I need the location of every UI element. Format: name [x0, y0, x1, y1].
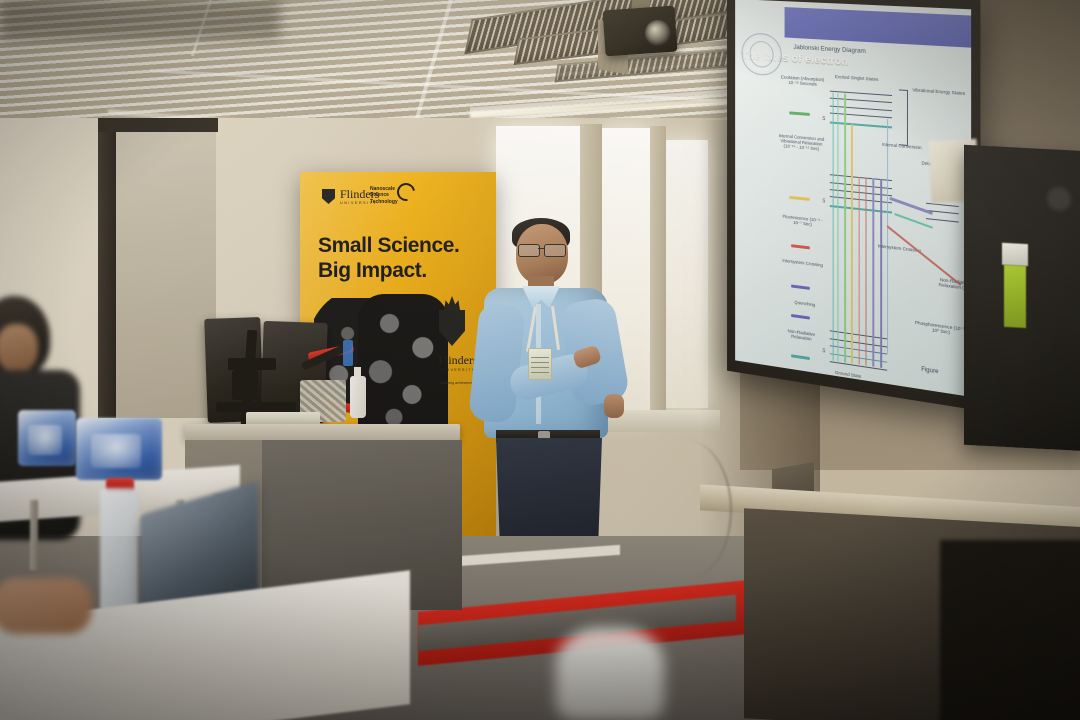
- banner-headline-line2: Big Impact.: [318, 259, 459, 284]
- seminar-room-photo: The fates of electron Jablonski Energy D…: [0, 0, 1080, 720]
- flinders-crest-icon: [322, 189, 335, 204]
- glasses-icon: [518, 244, 568, 255]
- bench-top: [185, 424, 460, 440]
- blue-bottle: [343, 340, 353, 366]
- glasses-left-lens: [518, 244, 540, 257]
- nanoscale-logo: Nanoscale Science Technology: [370, 186, 398, 205]
- microscope-head: [232, 370, 258, 400]
- banner-headline-line1: Small Science.: [318, 234, 459, 259]
- dispenser-bottle: [350, 376, 366, 418]
- projection-screen: The fates of electron Jablonski Energy D…: [727, 0, 980, 411]
- banner-headline: Small Science. Big Impact.: [318, 234, 459, 284]
- name-badge: [528, 348, 552, 380]
- presenter-hand-on-hip: [604, 394, 624, 418]
- monitor-label-sticker: [1002, 243, 1028, 266]
- blurred-foreground-object: [556, 628, 664, 720]
- audience-hand: [0, 578, 92, 634]
- ceiling-shadow: [0, 0, 280, 40]
- table-leg: [30, 500, 38, 570]
- glasses-right-lens: [544, 244, 566, 257]
- bottled-water-pack-2: [76, 418, 162, 480]
- door-frame-top: [98, 118, 218, 132]
- flinders-large-crest-icon: [435, 294, 469, 348]
- crest-crown: [444, 296, 460, 310]
- monitor-brand-logo-icon: [1044, 183, 1074, 215]
- microscope-base: [216, 402, 296, 412]
- projector-lens-icon: [645, 20, 671, 46]
- window-mullion: [650, 126, 666, 426]
- microscope-stage: [228, 358, 276, 370]
- nanoscale-line3: Technology: [370, 199, 398, 205]
- right-monitor: [964, 145, 1080, 451]
- doorway: [116, 132, 216, 418]
- monitor-green-sticker: [1004, 265, 1026, 328]
- crest-shield: [439, 310, 465, 346]
- cable-2: [640, 440, 732, 580]
- lectern-shadow: [940, 540, 1080, 720]
- audience-face: [0, 324, 38, 372]
- bottled-water-pack: [18, 410, 76, 466]
